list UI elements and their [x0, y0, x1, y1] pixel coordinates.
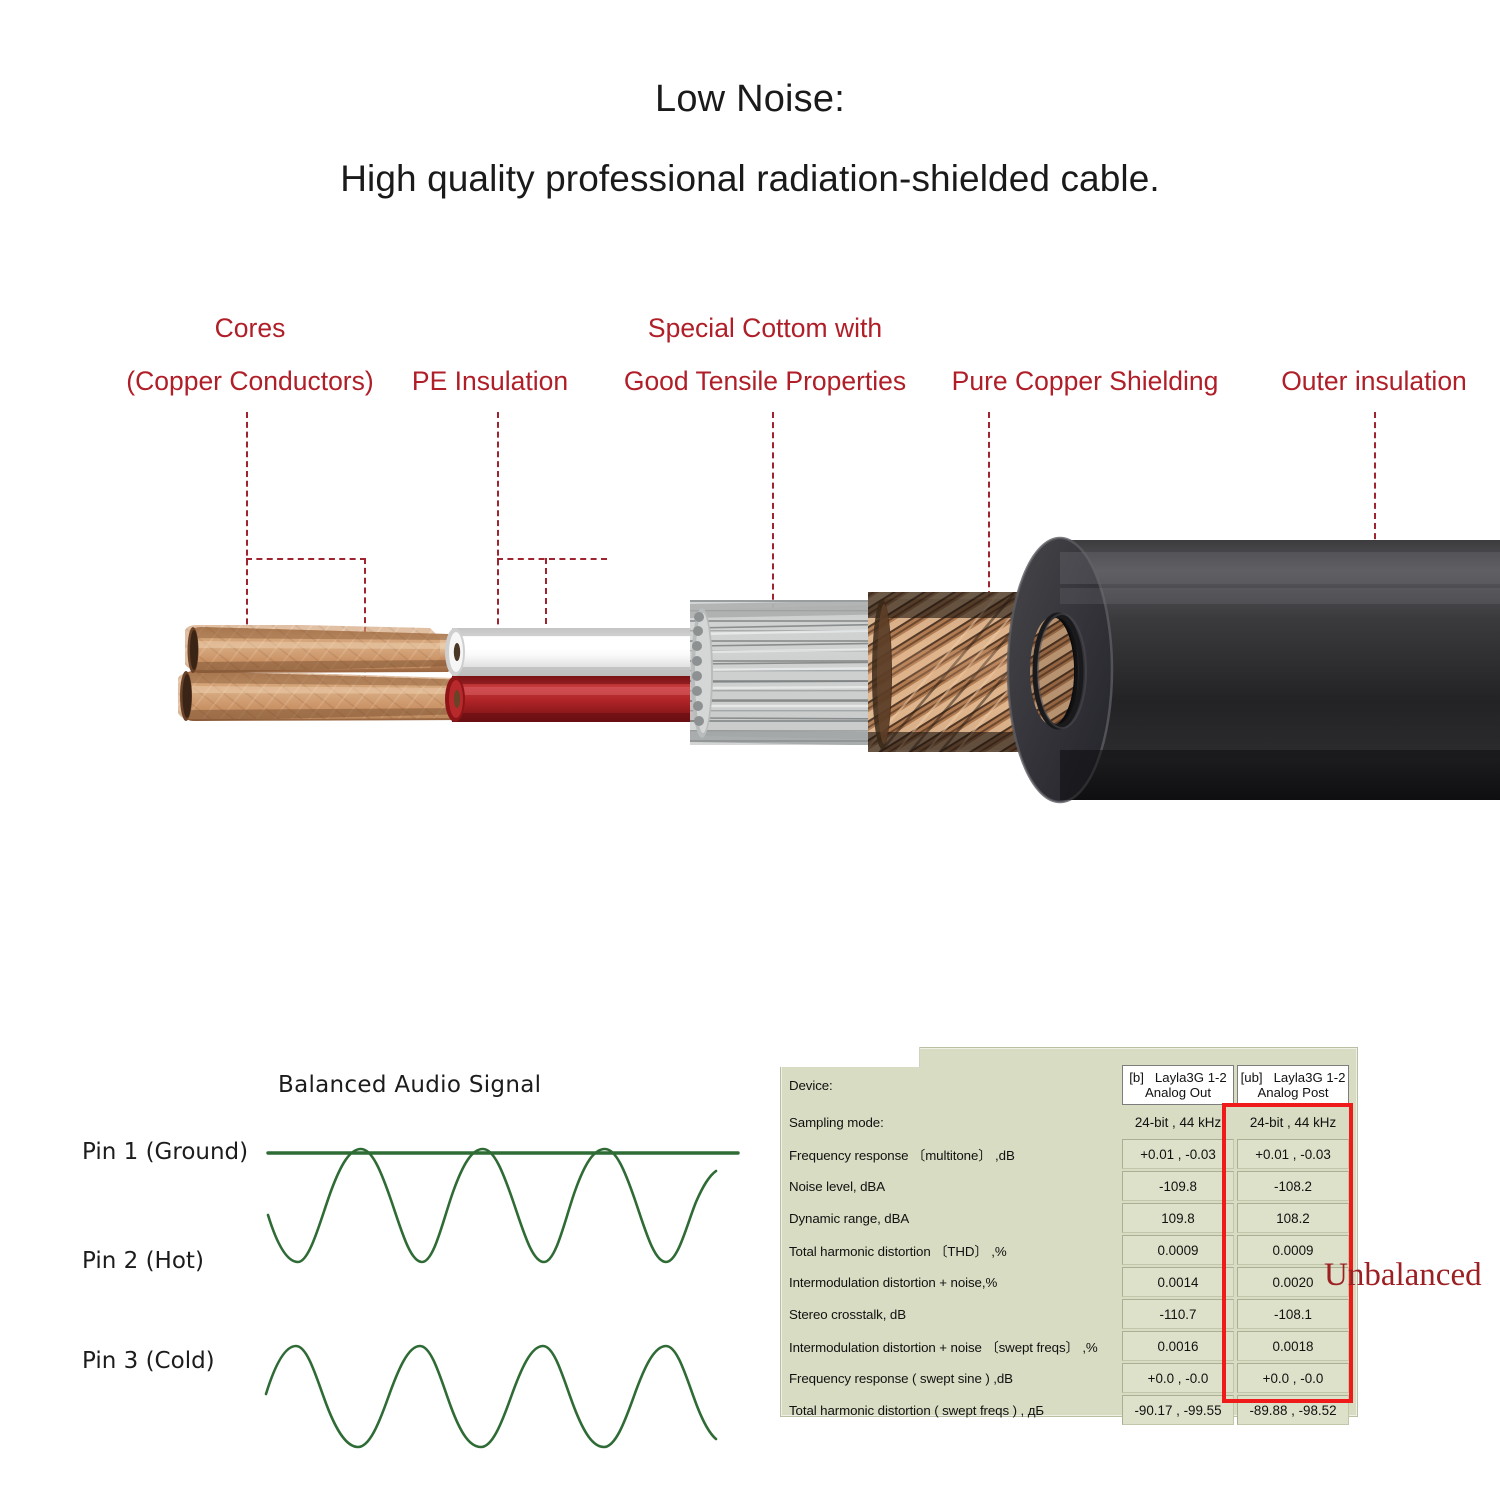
- device-col-balanced-mode: Analog Out: [1145, 1085, 1211, 1100]
- page-subtitle: High quality professional radiation-shie…: [0, 158, 1500, 200]
- row-label: Dynamic range, dBA: [789, 1203, 1110, 1233]
- table-row: Noise level, dBA -109.8 -108.2: [789, 1171, 1349, 1201]
- table-row: Sampling mode: 24-bit , 44 kHz 24-bit , …: [789, 1107, 1349, 1137]
- callout-copper-shielding-label: Pure Copper Shielding: [930, 355, 1240, 408]
- row-value-unbalanced: 24-bit , 44 kHz: [1237, 1107, 1349, 1137]
- outer-jacket: [1008, 538, 1500, 802]
- row-value-balanced: -109.8: [1122, 1171, 1234, 1201]
- row-value-balanced: -90.17 , -99.55: [1122, 1395, 1234, 1425]
- unbalanced-annotation: Unbalanced: [1324, 1257, 1482, 1294]
- pe-insulated-core-red: [445, 676, 718, 722]
- row-value-balanced: 24-bit , 44 kHz: [1122, 1107, 1234, 1137]
- row-label: Noise level, dBA: [789, 1171, 1110, 1201]
- callout-special-cotton: Special Cottom with Good Tensile Propert…: [600, 302, 930, 408]
- cell-spacer: [1113, 1331, 1119, 1361]
- row-label: Total harmonic distortion 〔THD〕 ,%: [789, 1235, 1110, 1265]
- pin3-waveform: [266, 1346, 716, 1447]
- device-col-balanced-name: Layla3G 1-2: [1155, 1070, 1227, 1085]
- copper-core-upper: [185, 622, 465, 677]
- row-value-unbalanced: -89.88 , -98.52: [1237, 1395, 1349, 1425]
- row-value-balanced: +0.01 , -0.03: [1122, 1139, 1234, 1169]
- table-row: Dynamic range, dBA 109.8 108.2: [789, 1203, 1349, 1233]
- row-value-unbalanced: +0.01 , -0.03: [1237, 1139, 1349, 1169]
- callout-cores-line2: (Copper Conductors): [70, 355, 430, 408]
- device-col-unbalanced-mode: Analog Post: [1257, 1085, 1328, 1100]
- row-value-unbalanced: -108.2: [1237, 1171, 1349, 1201]
- row-label: Frequency response ( swept sine ) ,dB: [789, 1363, 1110, 1393]
- device-col-unbalanced-tag: [ub]: [1241, 1070, 1263, 1085]
- row-label: Frequency response 〔multitone〕 ,dB: [789, 1139, 1110, 1169]
- row-label: Intermodulation distortion + noise 〔swep…: [789, 1331, 1110, 1361]
- table-row: Frequency response ( swept sine ) ,dB +0…: [789, 1363, 1349, 1393]
- row-value-balanced: -110.7: [1122, 1299, 1234, 1329]
- row-value-balanced: 0.0016: [1122, 1331, 1234, 1361]
- cell-spacer: [1113, 1107, 1119, 1137]
- device-col-balanced-tag: [b]: [1129, 1070, 1144, 1085]
- cotton-cut-end: [691, 608, 713, 738]
- callout-pe-insulation-label: PE Insulation: [380, 355, 600, 408]
- table-row: Total harmonic distortion ( swept freqs …: [789, 1395, 1349, 1425]
- row-value-unbalanced: -108.1: [1237, 1299, 1349, 1329]
- device-col-unbalanced-name: Layla3G 1-2: [1274, 1070, 1346, 1085]
- callout-cores: Cores (Copper Conductors): [70, 302, 430, 408]
- cell-spacer: [1113, 1171, 1119, 1201]
- row-label: Total harmonic distortion ( swept freqs …: [789, 1395, 1110, 1425]
- waveform-traces: [0, 1050, 780, 1450]
- pe-insulated-core-white: [445, 628, 718, 676]
- table-row: Total harmonic distortion 〔THD〕 ,% 0.000…: [789, 1235, 1349, 1265]
- cell-spacer: [1113, 1139, 1119, 1169]
- cell-spacer: [1113, 1267, 1119, 1297]
- table-row: Stereo crosstalk, dB -110.7 -108.1: [789, 1299, 1349, 1329]
- table-row: Intermodulation distortion + noise,% 0.0…: [789, 1267, 1349, 1297]
- callout-pe-insulation: PE Insulation: [380, 355, 600, 408]
- cell-spacer: [1113, 1235, 1119, 1265]
- row-label: Intermodulation distortion + noise,%: [789, 1267, 1110, 1297]
- callout-special-cotton-line2: Good Tensile Properties: [600, 355, 930, 408]
- page-title: Low Noise:: [0, 78, 1500, 121]
- row-value-unbalanced: +0.0 , -0.0: [1237, 1363, 1349, 1393]
- cell-spacer: [1113, 1065, 1119, 1105]
- row-label: Sampling mode:: [789, 1107, 1110, 1137]
- callout-outer-insulation-label: Outer insulation: [1250, 355, 1498, 408]
- device-col-balanced[interactable]: [b] Layla3G 1-2 Analog Out: [1122, 1065, 1234, 1105]
- cable-cutaway-illustration: [0, 500, 1500, 830]
- cell-spacer: [1113, 1363, 1119, 1393]
- row-value-balanced: 0.0014: [1122, 1267, 1234, 1297]
- row-value-unbalanced: 0.0018: [1237, 1331, 1349, 1361]
- callout-cores-line1: Cores: [215, 313, 286, 343]
- callout-copper-shielding: Pure Copper Shielding: [930, 355, 1240, 408]
- row-value-balanced: +0.0 , -0.0: [1122, 1363, 1234, 1393]
- row-value-balanced: 0.0009: [1122, 1235, 1234, 1265]
- row-value-balanced: 109.8: [1122, 1203, 1234, 1233]
- table-row: Intermodulation distortion + noise 〔swep…: [789, 1331, 1349, 1361]
- table-row-device: Device: [b] Layla3G 1-2 Analog Out [ub] …: [789, 1065, 1349, 1105]
- cell-spacer: [1113, 1299, 1119, 1329]
- measurement-table: Device: [b] Layla3G 1-2 Analog Out [ub] …: [786, 1063, 1352, 1427]
- callout-special-cotton-line1: Special Cottom with: [648, 313, 882, 343]
- cell-spacer: [1113, 1395, 1119, 1425]
- device-col-unbalanced[interactable]: [ub] Layla3G 1-2 Analog Post: [1237, 1065, 1349, 1105]
- cell-spacer: [1113, 1203, 1119, 1233]
- row-label: Stereo crosstalk, dB: [789, 1299, 1110, 1329]
- pin2-waveform: [268, 1149, 716, 1262]
- copper-core-lower: [178, 670, 478, 725]
- device-row-label: Device:: [789, 1065, 1110, 1105]
- row-value-unbalanced: 108.2: [1237, 1203, 1349, 1233]
- table-row: Frequency response 〔multitone〕 ,dB +0.01…: [789, 1139, 1349, 1169]
- callout-outer-insulation: Outer insulation: [1250, 355, 1498, 408]
